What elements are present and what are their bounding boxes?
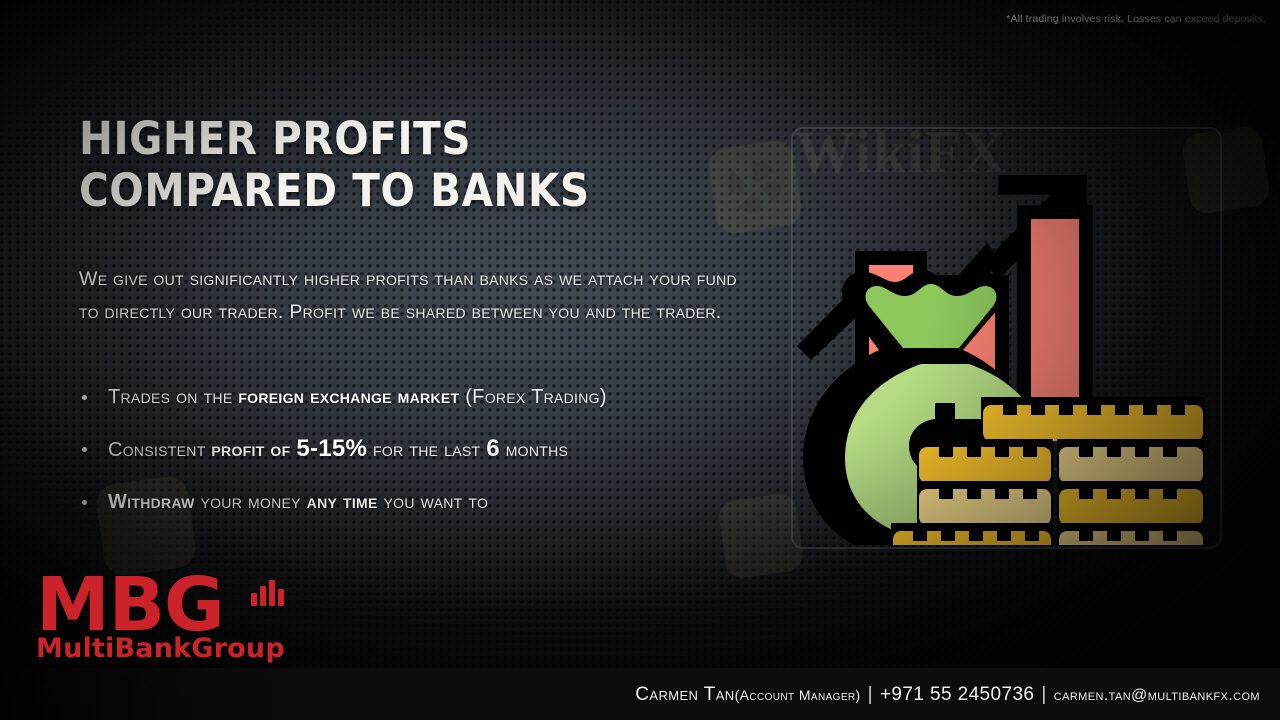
list-item-text: 6 — [486, 435, 500, 462]
contact-name: Carmen Tan — [635, 684, 734, 705]
slide-canvas: WikiFX WikiFX *All trading involves risk… — [0, 0, 1280, 720]
contact-separator: | — [1034, 684, 1053, 705]
list-item-text: foreign exchange market — [238, 386, 459, 408]
list-item-text: Withdraw — [108, 491, 195, 513]
contact-phone[interactable]: +971 55 2450736 — [880, 684, 1034, 705]
list-item-text: your money — [195, 491, 307, 513]
contact-email[interactable]: carmen.tan@multibankfx.com — [1054, 687, 1260, 704]
list-item-text: for the last — [367, 439, 486, 461]
signal-bars-icon — [251, 578, 287, 606]
contact-info: Carmen Tan(Account Manager)|+971 55 2450… — [635, 684, 1260, 706]
list-item-text: profit of — [211, 439, 296, 461]
list-item-text: Consistent — [108, 439, 211, 461]
list-item-text: you want to — [378, 491, 489, 513]
contact-role: (Account Manager) — [735, 687, 861, 703]
list-item-text: 5-15% — [296, 435, 367, 462]
list-item: Trades on the foreign exchange market (F… — [79, 383, 779, 411]
benefits-list: Trades on the foreign exchange market (F… — [79, 383, 779, 540]
logo-wordmark: MultiBankGroup — [36, 634, 286, 664]
list-item-text: (Forex Trading) — [459, 386, 606, 408]
intro-paragraph: We give out significantly higher profits… — [79, 263, 759, 329]
list-item-text: months — [500, 439, 568, 461]
page-title: Higher Profits Compared to Banks — [79, 113, 739, 217]
logo-mark: MBG — [36, 572, 286, 638]
risk-disclaimer: *All trading involves risk. Losses can e… — [1006, 13, 1266, 25]
list-item: Withdraw your money any time you want to — [79, 488, 779, 516]
list-item: Consistent profit of 5-15% for the last … — [79, 435, 779, 464]
list-item-text: any time — [307, 491, 378, 513]
profit-growth-illustration — [791, 127, 1218, 545]
mbg-logo: MBG MultiBankGroup — [36, 572, 286, 682]
contact-separator: | — [861, 684, 880, 705]
list-item-text: Trades on the — [108, 386, 238, 408]
